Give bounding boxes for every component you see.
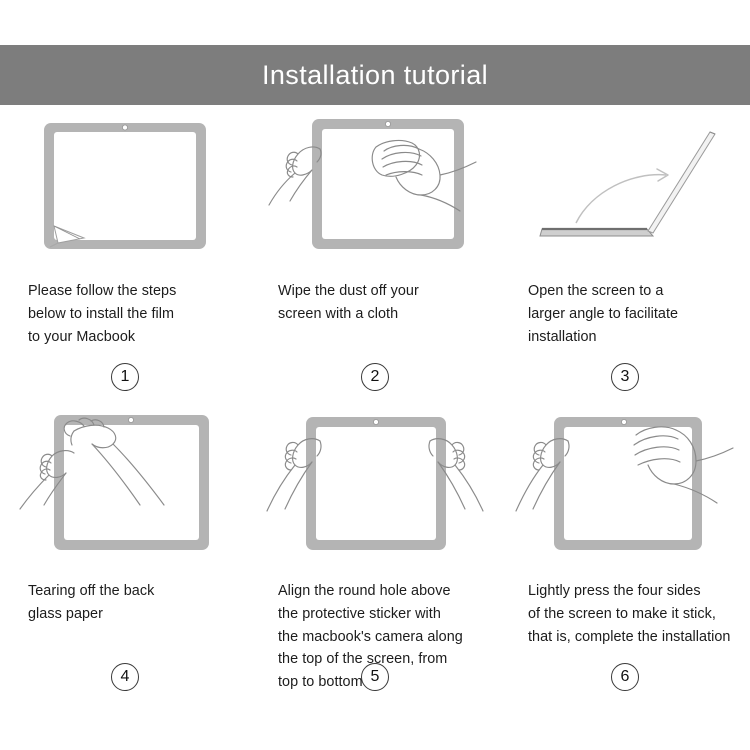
step-number-badge: 2	[361, 363, 389, 391]
step-card-5: Align the round hole above the protectiv…	[250, 405, 500, 705]
step-card-1: Please follow the steps below to install…	[0, 105, 250, 405]
step-2-caption: Wipe the dust off your screen with a clo…	[278, 280, 486, 326]
step-card-4: Tearing off the back glass paper 4	[0, 405, 250, 705]
step-3-caption: Open the screen to a larger angle to fac…	[528, 280, 736, 348]
step-1-badge-row: 1	[0, 363, 250, 391]
step-1-caption: Please follow the steps below to install…	[28, 280, 236, 348]
step-6-illustration	[514, 405, 736, 580]
step-3-illustration	[514, 105, 736, 280]
step-4-badge-row: 4	[0, 663, 250, 691]
step-2-illustration	[264, 105, 486, 280]
step-4-illustration	[14, 405, 236, 580]
step-5-badge-row: 5	[250, 663, 500, 691]
step-card-2: Wipe the dust off your screen with a clo…	[250, 105, 500, 405]
step-number-badge: 6	[611, 663, 639, 691]
step-6-badge-row: 6	[500, 663, 750, 691]
step-number-badge: 5	[361, 663, 389, 691]
step-6-caption: Lightly press the four sides of the scre…	[528, 580, 736, 648]
hands-tearing-backing-paper-icon	[14, 405, 236, 580]
hands-aligning-film-icon	[264, 405, 486, 580]
step-2-badge-row: 2	[250, 363, 500, 391]
step-number-badge: 1	[111, 363, 139, 391]
step-4-caption: Tearing off the back glass paper	[28, 580, 236, 626]
step-number-badge: 3	[611, 363, 639, 391]
step-5-illustration	[264, 405, 486, 580]
step-card-3: Open the screen to a larger angle to fac…	[500, 105, 750, 405]
steps-grid: Please follow the steps below to install…	[0, 105, 750, 705]
hand-pressing-film-icon	[514, 405, 736, 580]
header-banner: Installation tutorial	[0, 45, 750, 105]
step-card-6: Lightly press the four sides of the scre…	[500, 405, 750, 705]
hands-wiping-screen-icon	[264, 105, 486, 280]
screen-with-peeling-film-icon	[14, 105, 236, 280]
laptop-open-angle-icon	[514, 105, 736, 280]
step-3-badge-row: 3	[500, 363, 750, 391]
step-1-illustration	[14, 105, 236, 280]
step-number-badge: 4	[111, 663, 139, 691]
page-title: Installation tutorial	[262, 62, 488, 89]
